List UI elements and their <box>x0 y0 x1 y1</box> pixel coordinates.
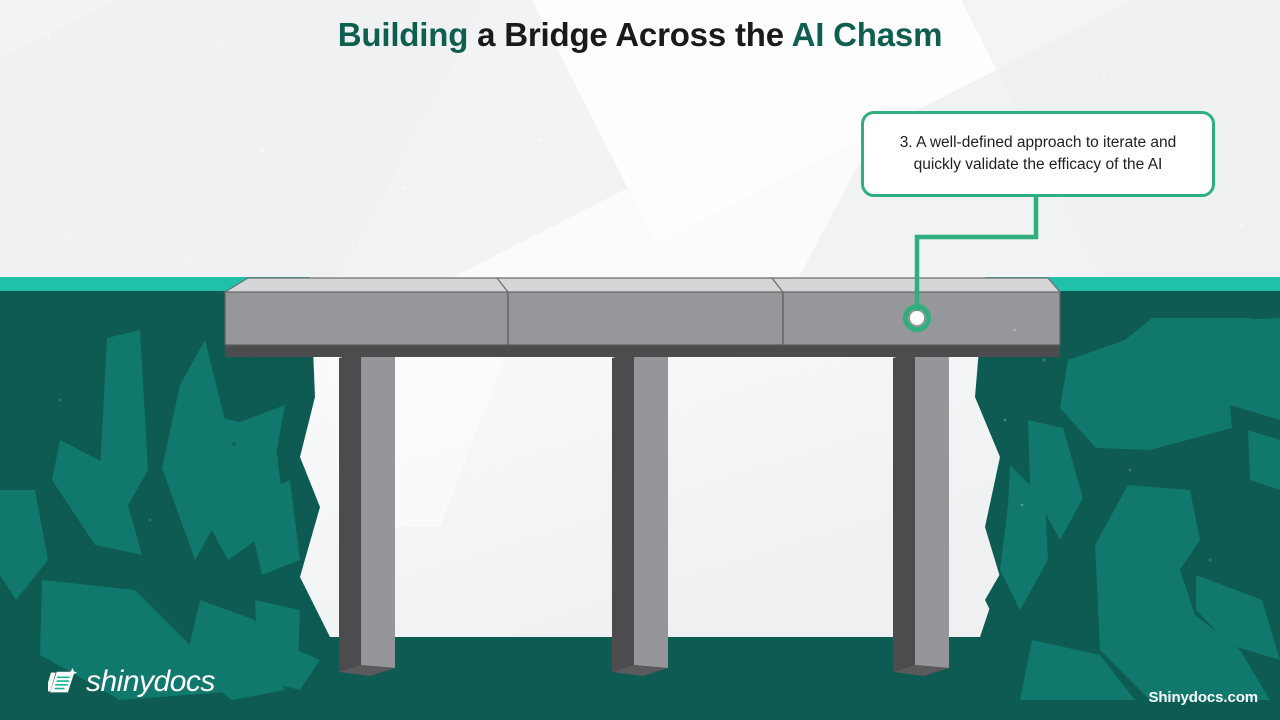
logo-wordmark: shinydocs <box>86 667 215 697</box>
callout-box-3[interactable]: 3. A well-defined approach to iterate an… <box>861 111 1215 197</box>
slide-canvas: 3. A well-defined approach to iterate an… <box>0 0 1280 720</box>
callout-text: 3. A well-defined approach to iterate an… <box>864 132 1212 176</box>
shinydocs-document-icon <box>48 667 78 697</box>
bridge-pillar-right <box>893 352 949 676</box>
bridge-pillar-left <box>339 352 395 676</box>
deck-front-faces <box>225 292 1060 345</box>
shinydocs-logo: shinydocs <box>48 667 215 697</box>
footer-url: Shinydocs.com <box>1148 689 1258 706</box>
deck-top-faces <box>225 278 1060 292</box>
bridge-structure <box>0 0 1280 720</box>
bridge-pillar-center <box>612 352 668 676</box>
page-title: Building a Bridge Across the AI Chasm <box>0 16 1280 54</box>
title-middle: a Bridge Across the <box>468 16 791 53</box>
title-accent-end: AI Chasm <box>792 16 943 53</box>
title-accent-start: Building <box>338 16 468 53</box>
